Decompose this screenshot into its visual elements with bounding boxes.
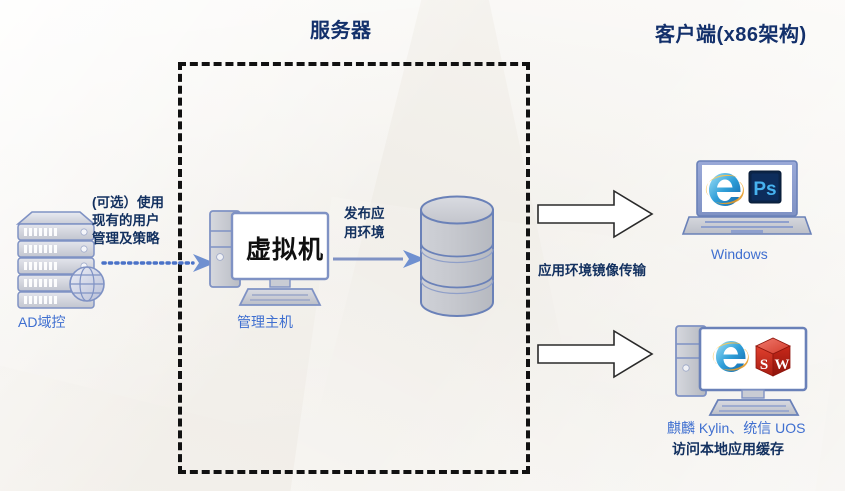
ad-controller-caption: AD域控 [18,312,65,332]
windows-client-icon: Ps [683,160,811,242]
ad-to-host-label: (可选）使用 现有的用户 管理及策略 [92,194,196,248]
linux-client-caption: 麒麟 Kylin、统信 UOS [667,418,805,438]
virtual-machine-screen-label: 虚拟机 [246,230,324,266]
svg-text:S: S [760,357,768,373]
client-section-title: 客户端(x86架构) [655,18,807,47]
linux-client-icon: S W [672,322,812,418]
publish-env-label: 发布应 用环境 [344,204,408,242]
management-host-caption: 管理主机 [237,312,293,332]
transfer-arrow-windows [536,188,654,240]
ad-to-host-connector [103,252,215,274]
diagram-canvas: 服务器 客户端(x86架构) [0,0,845,491]
svg-text:Ps: Ps [753,179,776,200]
server-section-title: 服务器 [310,14,372,43]
windows-client-caption: Windows [711,246,768,262]
image-transfer-label: 应用环境镜像传输 [538,262,646,280]
svg-text:W: W [775,357,790,373]
transfer-arrow-linux [536,328,654,380]
local-cache-note: 访问本地应用缓存 [672,440,784,458]
host-to-database-connector [333,248,425,270]
database-cylinder-icon [418,196,496,316]
